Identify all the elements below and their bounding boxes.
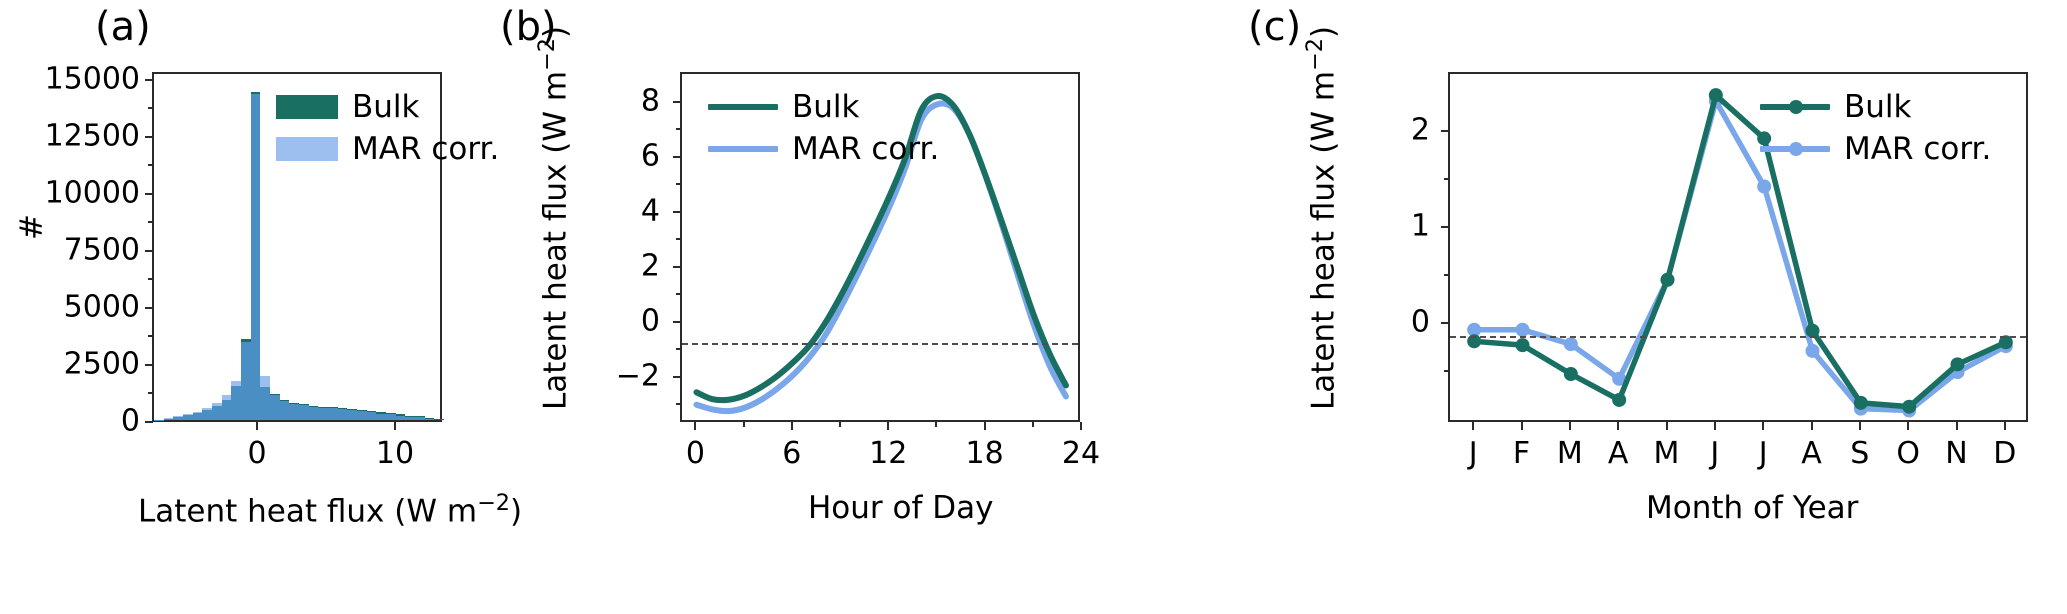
panel-b-ytickmark [673,266,681,268]
histogram-bar [164,419,174,420]
histogram-bar [251,94,261,420]
panel-c-ytickmark-minor [1444,274,1449,276]
panel-c: (c) 2 1 0 Latent heat flux (W m−2) JFMAM… [1180,0,2067,614]
panel-b-legend: Bulk MAR corr. [708,86,939,170]
figure-root: (a) 15000 12500 10000 7500 5000 2500 0 #… [0,0,2067,614]
panel-c-legend-row-bulk: Bulk [1760,86,1991,128]
histogram-bar [309,407,319,420]
histogram-bar [347,410,357,420]
panel-b-ytickmark [673,101,681,103]
panel-c-xlabel: Month of Year [1646,490,1858,526]
panel-b-ytick-m2: −2 [510,359,660,394]
histogram-bar [318,407,328,408]
histogram-bar [396,416,406,420]
panel-c-xtickmark [1472,422,1474,430]
histogram-bar [222,400,232,420]
panel-c-legend-label-bulk: Bulk [1844,89,1911,125]
panel-c-xtick-label: D [1993,436,2016,471]
panel-b-xtick-label: 0 [686,436,705,471]
histogram-bar [367,412,377,420]
panel-b-xtickmark-minor [1032,422,1034,427]
panel-a-xlabel-text: Latent heat flux (W m [138,493,477,529]
panel-a-label: (a) [95,4,151,50]
panel-b-xtickmark [984,422,986,430]
histogram-bar [415,416,425,417]
histogram-bar [173,417,183,420]
panel-c-zero-line [1450,336,2026,338]
panel-a-ytick-2500: 2500 [0,347,140,382]
panel-c-legend-label-mar: MAR corr. [1844,131,1991,167]
panel-a-ytick-5000: 5000 [0,290,140,325]
histogram-bar [425,418,435,419]
histogram-bar [425,418,435,420]
panel-a-ytickmark [145,193,153,195]
panel-b-ytick-0: 0 [510,304,660,339]
panel-c-xtickmark [1617,422,1619,430]
panel-b-ytick-6: 6 [510,139,660,174]
panel-a-ytickmark-minor [148,221,153,223]
legend-patch-mar-icon [276,137,338,161]
panel-c-ytickmark [1441,322,1449,324]
panel-b-ytickmark [673,211,681,213]
panel-c-xtick-label: O [1896,436,1920,471]
data-point [1806,344,1820,358]
histogram-bar [212,403,222,406]
histogram-bar [347,409,357,410]
histogram-bar [434,419,444,420]
panel-c-ylabel-exp: −2 [1302,38,1328,71]
panel-a-ytick-10000: 10000 [0,176,140,211]
panel-a-legend-row-bulk: Bulk [276,86,499,128]
panel-b-ytickmark [673,156,681,158]
panel-c-xtick-label: J [1759,436,1768,471]
panel-c-ytickmark-minor [1444,370,1449,372]
data-point [1709,88,1723,102]
histogram-bar [405,416,415,420]
panel-b-ytickmark [673,376,681,378]
panel-b-xtickmark-minor [935,422,937,427]
panel-a-ytick-15000: 15000 [0,62,140,97]
panel-c-ylabel: Latent heat flux (W m−2) [1302,26,1341,410]
panel-c-xtickmark [1859,422,1861,430]
panel-c-label: (c) [1248,4,1301,50]
histogram-bar [183,414,193,415]
histogram-bar [231,386,241,420]
panel-b-ytickmark-minor [676,238,681,240]
legend-line-marker-mar-icon [1760,137,1830,161]
panel-b-ylabel-close: ) [537,26,573,38]
panel-b-ylabel-text: Latent heat flux (W m [537,71,573,410]
legend-patch-bulk-icon [276,95,338,119]
histogram-bar [241,339,251,342]
histogram-bar [318,407,328,420]
panel-c-xtickmark [1666,422,1668,430]
panel-b-legend-row-mar: MAR corr. [708,128,939,170]
panel-b-ytick-2: 2 [510,249,660,284]
data-point [1612,393,1626,407]
data-point [1661,273,1675,287]
panel-c-xtick-label: J [1469,436,1478,471]
panel-a-xtick-0: 0 [247,436,266,471]
panel-b-xtick-label: 12 [869,436,907,471]
panel-a-ytickmark [145,364,153,366]
histogram-bar [241,342,251,420]
panel-b-ylabel: Latent heat flux (W m−2) [534,26,573,410]
histogram-bar [289,403,299,404]
panel-c-xtickmark [1762,422,1764,430]
panel-c-xtick-label: J [1710,436,1719,471]
panel-b-zero-line [682,343,1078,345]
panel-b: (b) 8 6 4 2 0 −2 Latent heat flux (W m−2… [490,0,1180,614]
panel-a-xtickmark [256,422,258,430]
histogram-bar [357,411,367,420]
histogram-bar [280,401,290,420]
panel-c-xtick-label: N [1945,436,1967,471]
panel-c-xtick-label: A [1801,436,1822,471]
histogram-bar [338,409,348,420]
data-point [1564,367,1578,381]
panel-a-legend-label-mar: MAR corr. [352,131,499,167]
data-point [1516,338,1530,352]
histogram-bar [405,416,415,417]
panel-b-legend-label-mar: MAR corr. [792,131,939,167]
panel-b-ytickmark-minor [676,128,681,130]
histogram-bar [280,400,290,401]
histogram-bar [270,395,280,420]
panel-c-xtickmark [1521,422,1523,430]
histogram-bar [376,412,386,413]
panel-b-xtick-label: 18 [966,436,1004,471]
histogram-bar [212,406,222,420]
panel-a-ytickmark-minor [148,392,153,394]
histogram-bar [299,405,309,420]
panel-c-xtickmark [1907,422,1909,430]
panel-b-ytickmark [673,321,681,323]
panel-c-ylabel-text: Latent heat flux (W m [1305,71,1341,410]
panel-b-ylabel-exp: −2 [534,38,560,71]
histogram-bar [386,413,396,414]
data-point [1564,337,1578,351]
histogram-bar [376,414,386,421]
panel-c-legend: Bulk MAR corr. [1760,86,1991,170]
panel-c-legend-row-mar: MAR corr. [1760,128,1991,170]
data-point [1757,180,1771,194]
panel-b-xtick-label: 24 [1062,436,1100,471]
histogram-bar [251,92,261,94]
histogram-bar [222,395,232,400]
legend-line-mar-icon [708,137,778,161]
panel-b-xlabel: Hour of Day [808,490,993,526]
panel-b-xtickmark [791,422,793,430]
panel-b-legend-label-bulk: Bulk [792,89,859,125]
histogram-bar [367,411,377,412]
panel-b-ytickmark-minor [676,403,681,405]
histogram-bar [193,412,203,414]
panel-b-ytickmark-minor [676,183,681,185]
panel-a-ytickmark-minor [148,107,153,109]
histogram-bar [270,394,280,395]
panel-a-ytickmark [145,307,153,309]
panel-c-xtickmark [1569,422,1571,430]
panel-c-xtickmark [1956,422,1958,430]
histogram-bar [415,417,425,420]
panel-a-ylabel: # [14,214,50,240]
histogram-bar [202,410,212,420]
histogram-bar [328,408,338,420]
panel-a-legend-label-bulk: Bulk [352,89,419,125]
panel-b-xtickmark [1080,422,1082,430]
panel-c-xtick-label: M [1557,436,1583,471]
panel-c-xtickmark [1811,422,1813,430]
panel-a-ytick-12500: 12500 [0,119,140,154]
panel-a-ytickmark [145,250,153,252]
histogram-bar [299,404,309,405]
histogram-bar [396,414,406,415]
panel-b-xtickmark-minor [839,422,841,427]
panel-a-ytickmark [145,421,153,423]
panel-c-xtick-label: F [1513,436,1530,471]
histogram-bar [193,413,203,420]
histogram-bar [338,408,348,409]
panel-a-legend-row-mar: MAR corr. [276,128,499,170]
histogram-bar [260,387,270,420]
panel-a-ytickmark-minor [148,335,153,337]
histogram-bar [183,415,193,420]
panel-b-xtickmark-minor [743,422,745,427]
panel-c-ylabel-close: ) [1305,26,1341,38]
data-point [1951,357,1965,371]
panel-b-ytickmark-minor [676,348,681,350]
panel-a-ytickmark [145,136,153,138]
data-point [1902,400,1916,414]
panel-a-ytick-0: 0 [0,404,140,439]
panel-c-xtickmark [2004,422,2006,430]
histogram-bar [309,406,319,407]
panel-c-ytickmark-minor [1444,178,1449,180]
panel-a-ytickmark [145,79,153,81]
panel-b-xtickmark [887,422,889,430]
panel-b-ytickmark-minor [676,293,681,295]
histogram-bar [357,410,367,411]
panel-a-legend: Bulk MAR corr. [276,86,499,170]
histogram-bar [231,381,241,386]
panel-c-xtick-label: M [1654,436,1680,471]
data-point [1854,396,1868,410]
legend-line-bulk-icon [708,95,778,119]
panel-a-xlabel: Latent heat flux (W m−2) [138,490,522,529]
legend-line-marker-bulk-icon [1760,95,1830,119]
histogram-bar [289,403,299,420]
histogram-bar [328,407,338,408]
panel-a-xtickmark [394,422,396,430]
panel-a: (a) 15000 12500 10000 7500 5000 2500 0 #… [0,0,500,614]
histogram-bar [386,414,396,420]
panel-b-legend-row-bulk: Bulk [708,86,939,128]
panel-b-ytick-8: 8 [510,84,660,119]
histogram-bar [260,376,270,388]
panel-c-ytickmark [1441,130,1449,132]
panel-a-ytickmark-minor [148,278,153,280]
panel-c-xtick-label: S [1850,436,1869,471]
histogram-bar [202,408,212,410]
panel-b-xtick-label: 6 [782,436,801,471]
panel-a-xtick-10: 10 [376,436,414,471]
panel-c-xtickmark [1714,422,1716,430]
panel-b-xtickmark [694,422,696,430]
panel-b-ytick-4: 4 [510,194,660,229]
histogram-bar [173,416,183,417]
panel-c-ytickmark [1441,226,1449,228]
panel-a-ytickmark-minor [148,164,153,166]
panel-c-xtick-label: A [1608,436,1629,471]
